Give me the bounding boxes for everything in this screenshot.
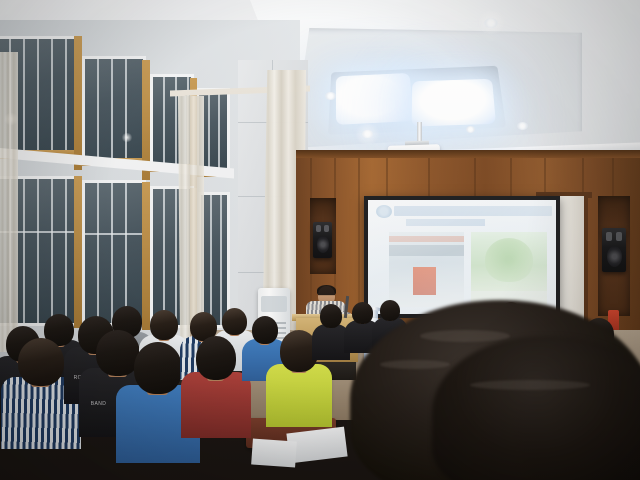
downlight-halo	[354, 124, 381, 144]
window-wood-mullion	[74, 36, 82, 170]
lecture-hall-photo: ROCKBAND	[0, 0, 640, 480]
attendee-head	[252, 316, 278, 344]
downlight-icon	[517, 122, 528, 130]
attendee-head	[150, 310, 178, 340]
attendee-head	[18, 338, 64, 386]
downlight-icon	[466, 126, 475, 133]
attendee-head	[380, 300, 400, 321]
wall-speaker-left	[313, 222, 332, 258]
attendee-head	[134, 342, 182, 394]
wood-wall-cornice	[296, 150, 640, 158]
attendee-head	[320, 304, 342, 328]
ceiling-light-panel-left	[336, 73, 415, 125]
ceiling-light-panel-right	[412, 79, 496, 127]
attendee-torso	[181, 372, 251, 438]
attendee-torso	[266, 364, 333, 427]
attendee-head	[196, 336, 236, 380]
attendee-head	[222, 308, 247, 335]
window-upper-2	[82, 56, 146, 166]
attendee-head	[352, 302, 373, 324]
downlight-halo	[475, 11, 507, 34]
wall-speaker-right	[602, 228, 626, 272]
downlight-icon	[325, 92, 336, 100]
shirt-text: BAND	[91, 401, 107, 407]
